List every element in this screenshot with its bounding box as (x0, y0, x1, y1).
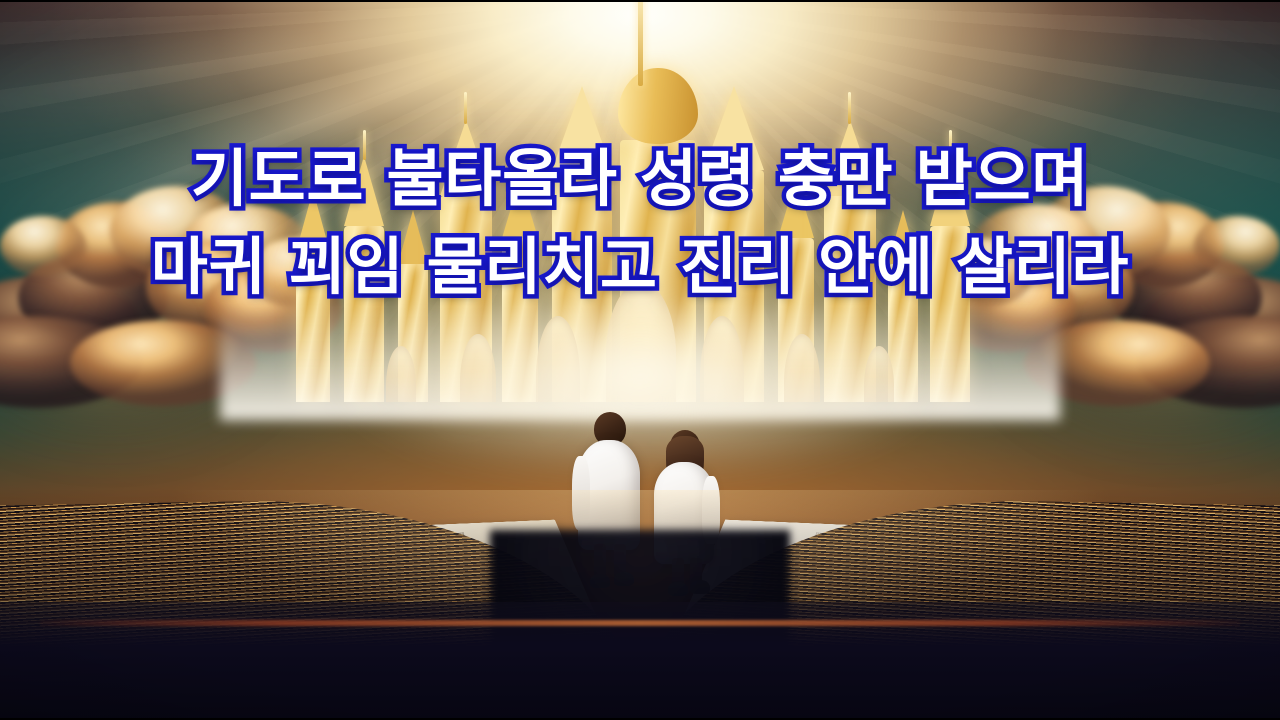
vignette-overlay (0, 0, 1280, 720)
scene-canvas: 기도로 불타올라 성령 충만 받으며 마귀 꾀임 물리치고 진리 안에 살리라 (0, 0, 1280, 720)
top-border (0, 0, 1280, 2)
